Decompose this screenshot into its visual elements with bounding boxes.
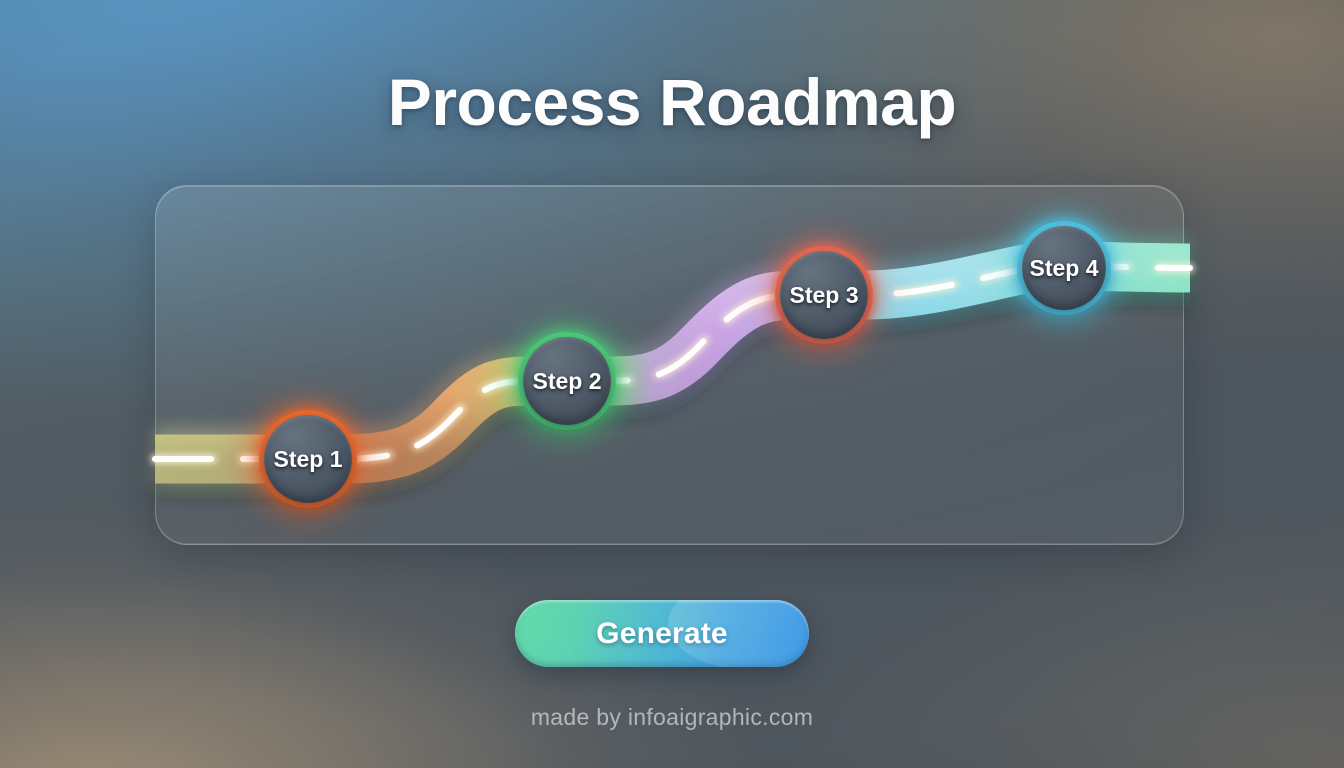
generate-button[interactable]: Generate <box>515 600 809 667</box>
step-3-label: Step 3 <box>789 282 858 309</box>
footer-credit: made by infoaigraphic.com <box>0 704 1344 731</box>
step-2-label: Step 2 <box>532 368 601 395</box>
step-4-label: Step 4 <box>1029 255 1098 282</box>
roadmap-step-2[interactable]: Step 2 <box>523 337 611 425</box>
roadmap-step-3[interactable]: Step 3 <box>780 251 868 339</box>
roadmap-step-4[interactable]: Step 4 <box>1022 226 1106 310</box>
roadmap-step-1[interactable]: Step 1 <box>264 415 352 503</box>
page-title: Process Roadmap <box>0 64 1344 140</box>
step-1-label: Step 1 <box>273 446 342 473</box>
